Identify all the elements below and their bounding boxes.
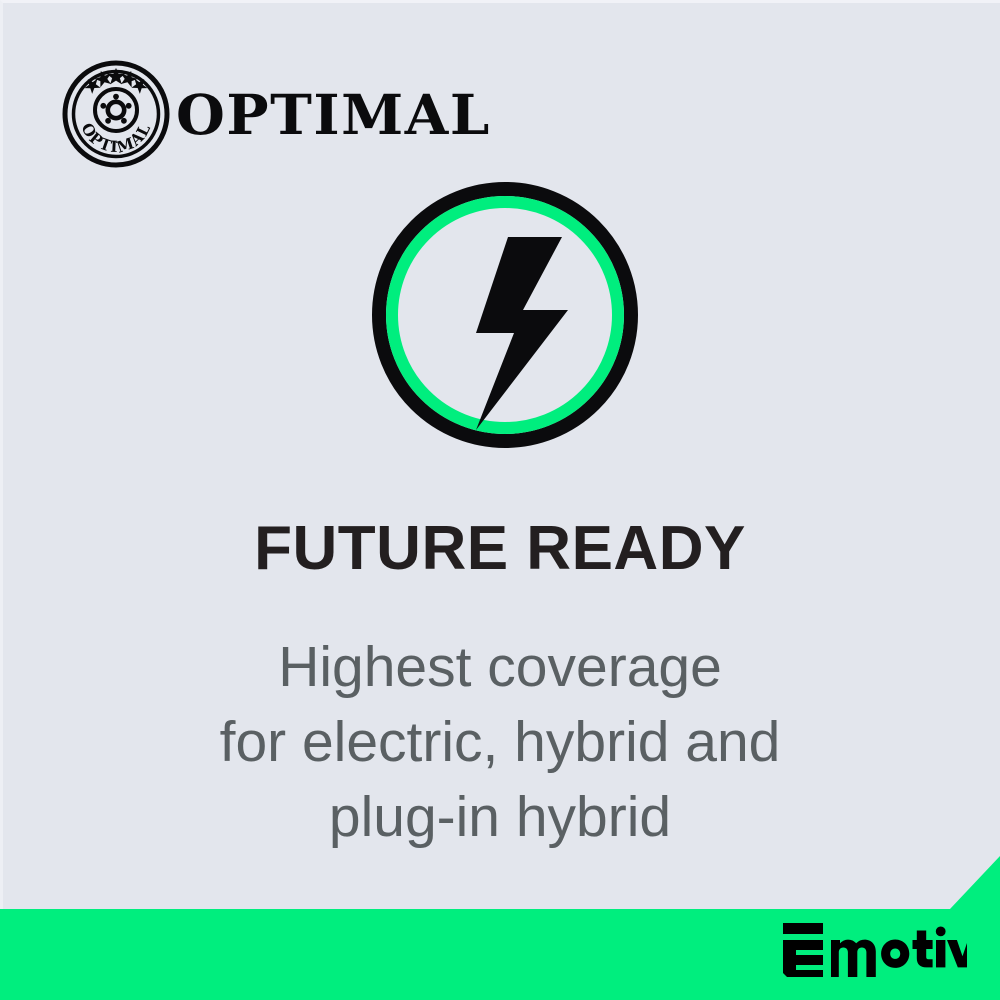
lightning-bolt-in-double-ring-icon bbox=[372, 181, 638, 449]
brand-lockup: OPTIMAL OPTIMAL bbox=[62, 58, 485, 170]
lightning-bolt-icon bbox=[476, 237, 568, 430]
emotive-logo-icon: Emotive bbox=[781, 923, 967, 977]
wheel-bearing-icon bbox=[95, 89, 137, 131]
emblem-curved-text: OPTIMAL bbox=[77, 120, 154, 157]
promo-card: OPTIMAL OPTIMAL bbox=[0, 0, 1000, 1000]
emotive-wordmark-text: Emotive bbox=[781, 977, 782, 978]
subtitle: Highest coverage for electric, hybrid an… bbox=[0, 630, 1000, 856]
page-title: FUTURE READY bbox=[0, 516, 1000, 581]
brand-wordmark: OPTIMAL bbox=[176, 87, 491, 142]
hero-icon bbox=[372, 181, 638, 449]
subtitle-line: for electric, hybrid and bbox=[0, 705, 1000, 780]
emblem-stars bbox=[81, 68, 151, 96]
subtitle-line: Highest coverage bbox=[0, 630, 1000, 705]
optimal-bearing-seal-icon: OPTIMAL bbox=[62, 60, 170, 168]
subtitle-line: plug-in hybrid bbox=[0, 780, 1000, 855]
